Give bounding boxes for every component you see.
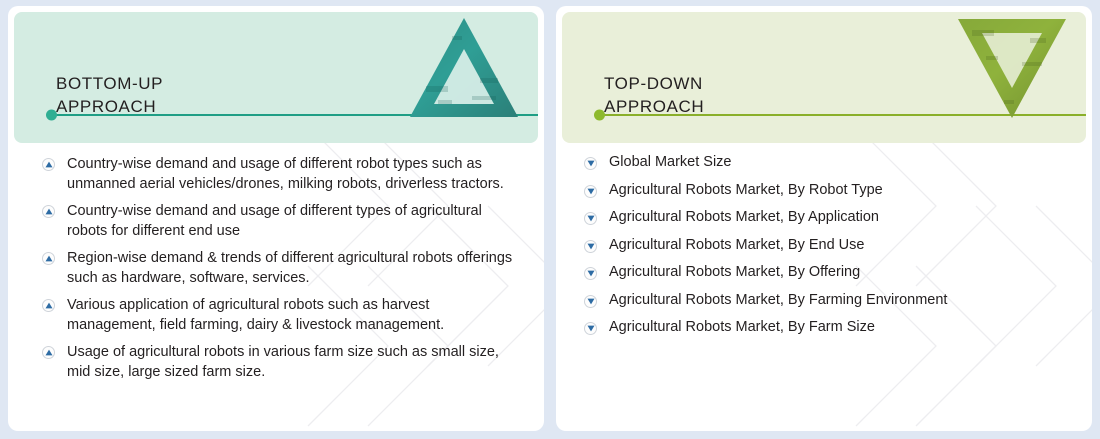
point-text: Region-wise demand & trends of different… — [67, 249, 519, 288]
triangle-up-bullet-icon — [42, 205, 55, 218]
list-item: Agricultural Robots Market, By Offering — [584, 264, 1086, 281]
triangle-down-bullet-icon — [584, 240, 597, 253]
point-text: Agricultural Robots Market, By Farm Size — [609, 319, 875, 336]
top-down-header: TOP-DOWN APPROACH — [562, 12, 1086, 143]
list-item: Agricultural Robots Market, By Farm Size — [584, 319, 1086, 336]
triangle-up-icon — [408, 16, 520, 120]
list-item: Global Market Size — [584, 154, 1086, 171]
triangle-down-bullet-icon — [584, 157, 597, 170]
point-text: Country-wise demand and usage of differe… — [67, 202, 519, 241]
list-item: Country-wise demand and usage of differe… — [42, 155, 538, 194]
triangle-down-bullet-icon — [584, 212, 597, 225]
triangle-down-bullet-icon — [584, 322, 597, 335]
point-text: Global Market Size — [609, 154, 732, 171]
list-item: Country-wise demand and usage of differe… — [42, 202, 538, 241]
triangle-up-bullet-icon — [42, 346, 55, 359]
triangle-up-bullet-icon — [42, 299, 55, 312]
top-down-approach-card: TOP-DOWN APPROACH — [556, 6, 1092, 431]
point-text: Agricultural Robots Market, By Applicati… — [609, 209, 879, 226]
top-down-title: TOP-DOWN APPROACH — [604, 72, 704, 118]
point-text: Agricultural Robots Market, By Offering — [609, 264, 860, 281]
list-item: Agricultural Robots Market, By Applicati… — [584, 209, 1086, 226]
point-text: Agricultural Robots Market, By Robot Typ… — [609, 182, 883, 199]
list-item: Usage of agricultural robots in various … — [42, 343, 538, 382]
list-item: Agricultural Robots Market, By Farming E… — [584, 292, 1086, 309]
bottom-up-point-list: Country-wise demand and usage of differe… — [42, 155, 538, 382]
bottom-up-approach-card: BOTTOM-UP APPROACH — [8, 6, 544, 431]
list-item: Agricultural Robots Market, By End Use — [584, 237, 1086, 254]
approach-comparison-board: BOTTOM-UP APPROACH — [0, 0, 1100, 439]
triangle-up-bullet-icon — [42, 158, 55, 171]
list-item: Various application of agricultural robo… — [42, 296, 538, 335]
point-text: Usage of agricultural robots in various … — [67, 343, 519, 382]
list-item: Agricultural Robots Market, By Robot Typ… — [584, 182, 1086, 199]
point-text: Agricultural Robots Market, By End Use — [609, 237, 864, 254]
point-text: Country-wise demand and usage of differe… — [67, 155, 519, 194]
point-text: Agricultural Robots Market, By Farming E… — [609, 292, 947, 309]
list-item: Region-wise demand & trends of different… — [42, 249, 538, 288]
triangle-down-bullet-icon — [584, 185, 597, 198]
triangle-down-icon — [956, 16, 1068, 120]
top-down-body: Global Market Size Agricultural Robots M… — [562, 143, 1086, 425]
triangle-down-bullet-icon — [584, 267, 597, 280]
point-text: Various application of agricultural robo… — [67, 296, 519, 335]
bottom-up-title: BOTTOM-UP APPROACH — [56, 72, 163, 118]
triangle-down-bullet-icon — [584, 295, 597, 308]
bottom-up-header: BOTTOM-UP APPROACH — [14, 12, 538, 143]
bottom-up-body: Country-wise demand and usage of differe… — [14, 143, 538, 425]
triangle-up-bullet-icon — [42, 252, 55, 265]
top-down-point-list: Global Market Size Agricultural Robots M… — [584, 154, 1086, 336]
